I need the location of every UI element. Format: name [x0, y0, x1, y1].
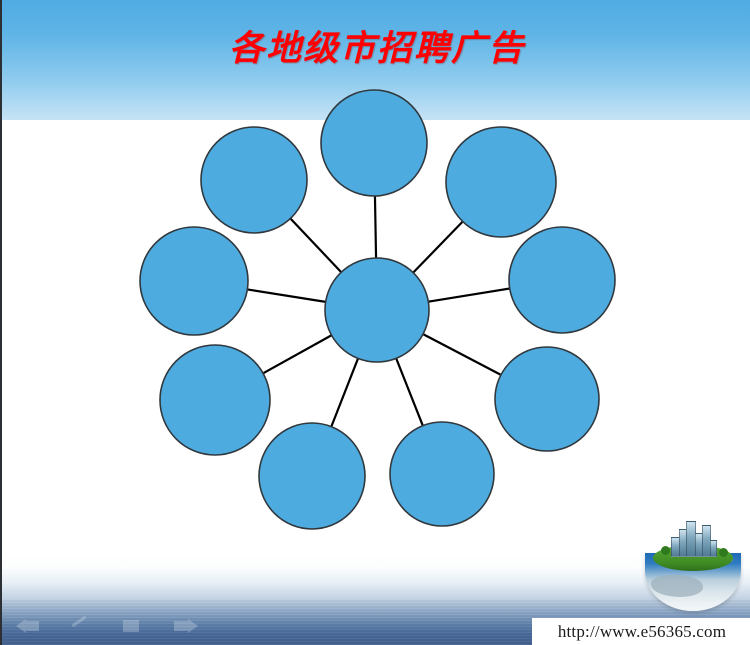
- spoke-line-1: [375, 196, 376, 258]
- spoke-line-4: [423, 334, 501, 375]
- node-left[interactable]: [140, 227, 248, 335]
- spoke-line-3: [428, 288, 509, 301]
- node-bottom-left[interactable]: [259, 423, 365, 529]
- node-bottom-right[interactable]: [495, 347, 599, 451]
- center-node[interactable]: [325, 258, 429, 362]
- city-skyline-icon: [669, 521, 717, 557]
- spoke-line-7: [263, 335, 331, 373]
- node-bottom[interactable]: [390, 422, 494, 526]
- node-top-right[interactable]: [446, 127, 556, 237]
- spoke-line-6: [331, 358, 358, 426]
- node-top-left[interactable]: [201, 127, 307, 233]
- spoke-line-9: [290, 218, 341, 272]
- slide-canvas: 各地级市招聘广告 http://www.e56365.com: [0, 0, 750, 645]
- earth-city-logo: [645, 519, 741, 615]
- watermark-bar: http://www.e56365.com: [532, 618, 750, 645]
- watermark-url: http://www.e56365.com: [558, 622, 726, 642]
- node-right[interactable]: [509, 227, 615, 333]
- spoke-line-8: [247, 289, 325, 301]
- node-left-lower[interactable]: [160, 345, 270, 455]
- spoke-line-2: [413, 222, 463, 273]
- spoke-line-5: [396, 358, 423, 425]
- node-top[interactable]: [321, 90, 427, 196]
- radial-diagram: [2, 0, 750, 645]
